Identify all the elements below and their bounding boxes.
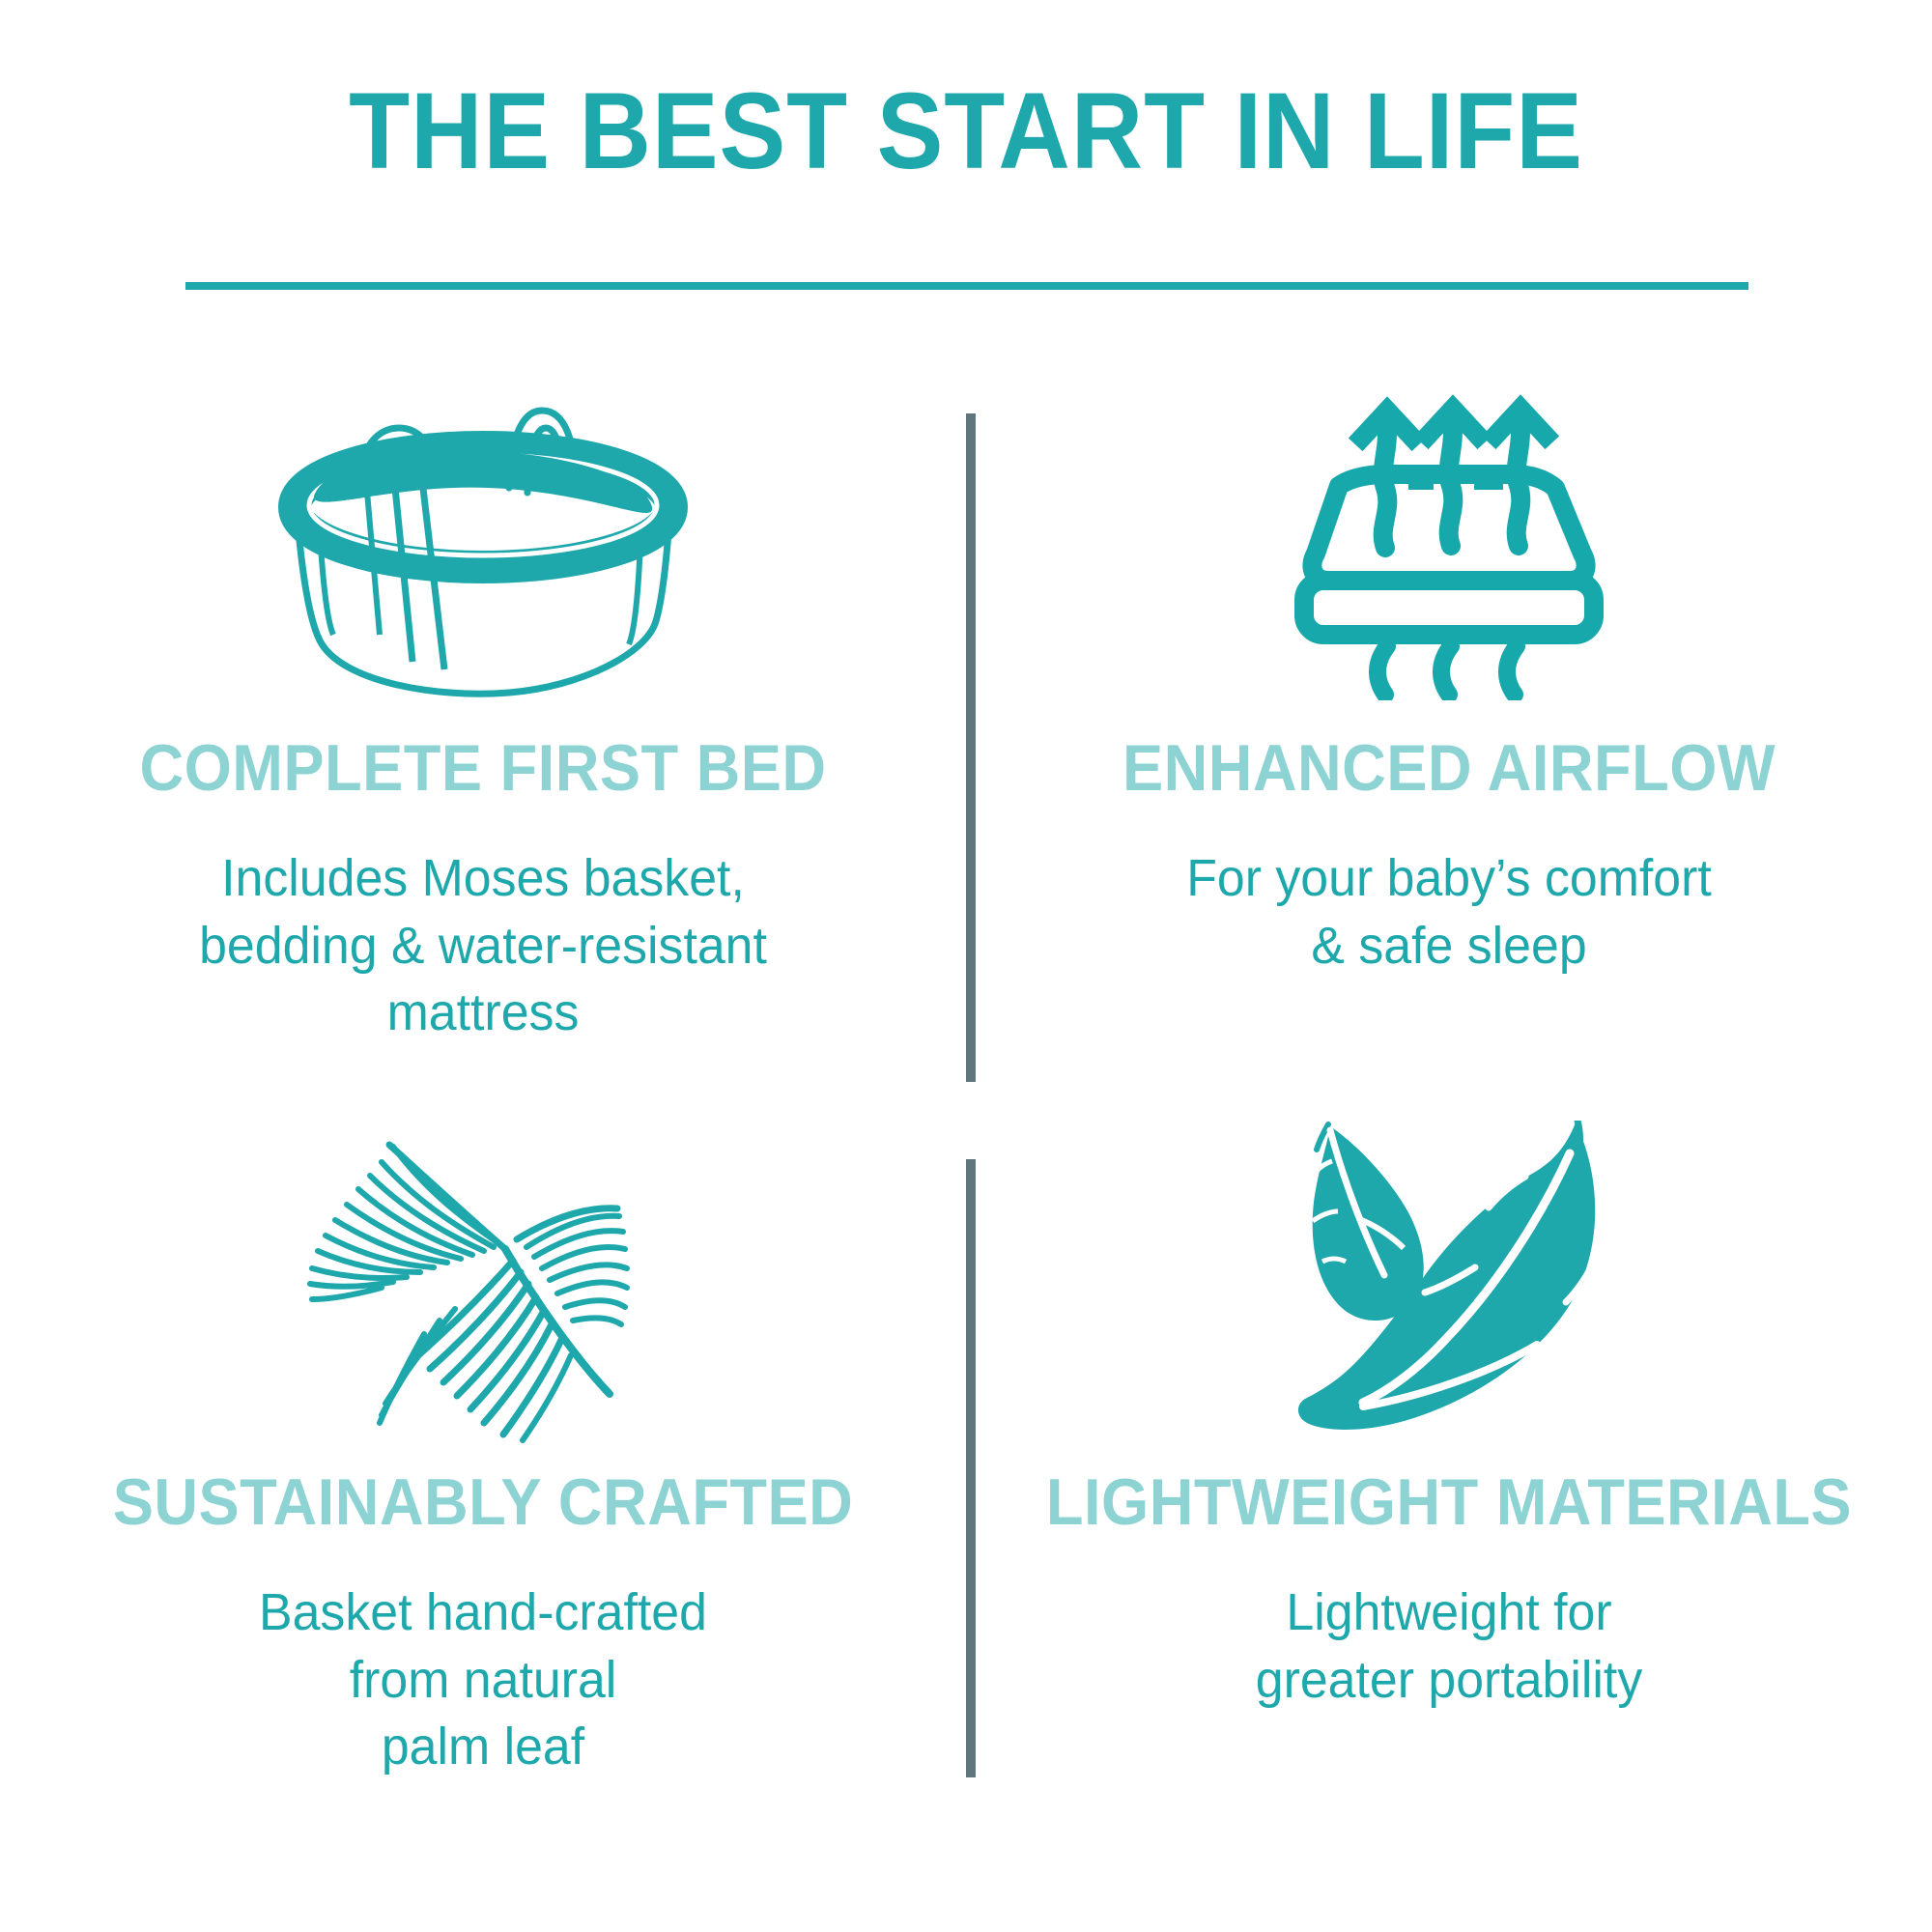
feature-title: COMPLETE FIRST BED [66,734,901,803]
feature-title: LIGHTWEIGHT MATERIALS [1032,1468,1867,1537]
feathers-icon [1000,1121,1898,1439]
feature-card-sustainably-crafted: SUSTAINABLY CRAFTED Basket hand-crafted … [34,1121,932,1780]
feature-card-complete-first-bed: COMPLETE FIRST BED Includes Moses basket… [34,386,932,1046]
feature-grid: COMPLETE FIRST BED Includes Moses basket… [0,386,1932,1932]
feature-description: Lightweight for greater portability [1018,1579,1881,1713]
moses-basket-icon [34,386,932,705]
feature-description: For your baby’s comfort & safe sleep [1018,845,1881,979]
feature-card-lightweight-materials: LIGHTWEIGHT MATERIALS Lightweight for gr… [1000,1121,1898,1714]
header: THE BEST START IN LIFE [0,77,1932,185]
infographic-page: THE BEST START IN LIFE [0,0,1932,1932]
page-title: THE BEST START IN LIFE [77,77,1855,185]
title-underline-rule [185,282,1748,290]
feature-description: Includes Moses basket, bedding & water-r… [52,845,915,1045]
palm-leaf-icon [34,1121,932,1439]
airflow-mattress-icon [1000,386,1898,705]
feature-title: SUSTAINABLY CRAFTED [66,1468,901,1537]
feature-card-enhanced-airflow: ENHANCED AIRFLOW For your baby’s comfort… [1000,386,1898,980]
feature-title: ENHANCED AIRFLOW [1032,734,1867,803]
feature-description: Basket hand-crafted from natural palm le… [52,1579,915,1779]
